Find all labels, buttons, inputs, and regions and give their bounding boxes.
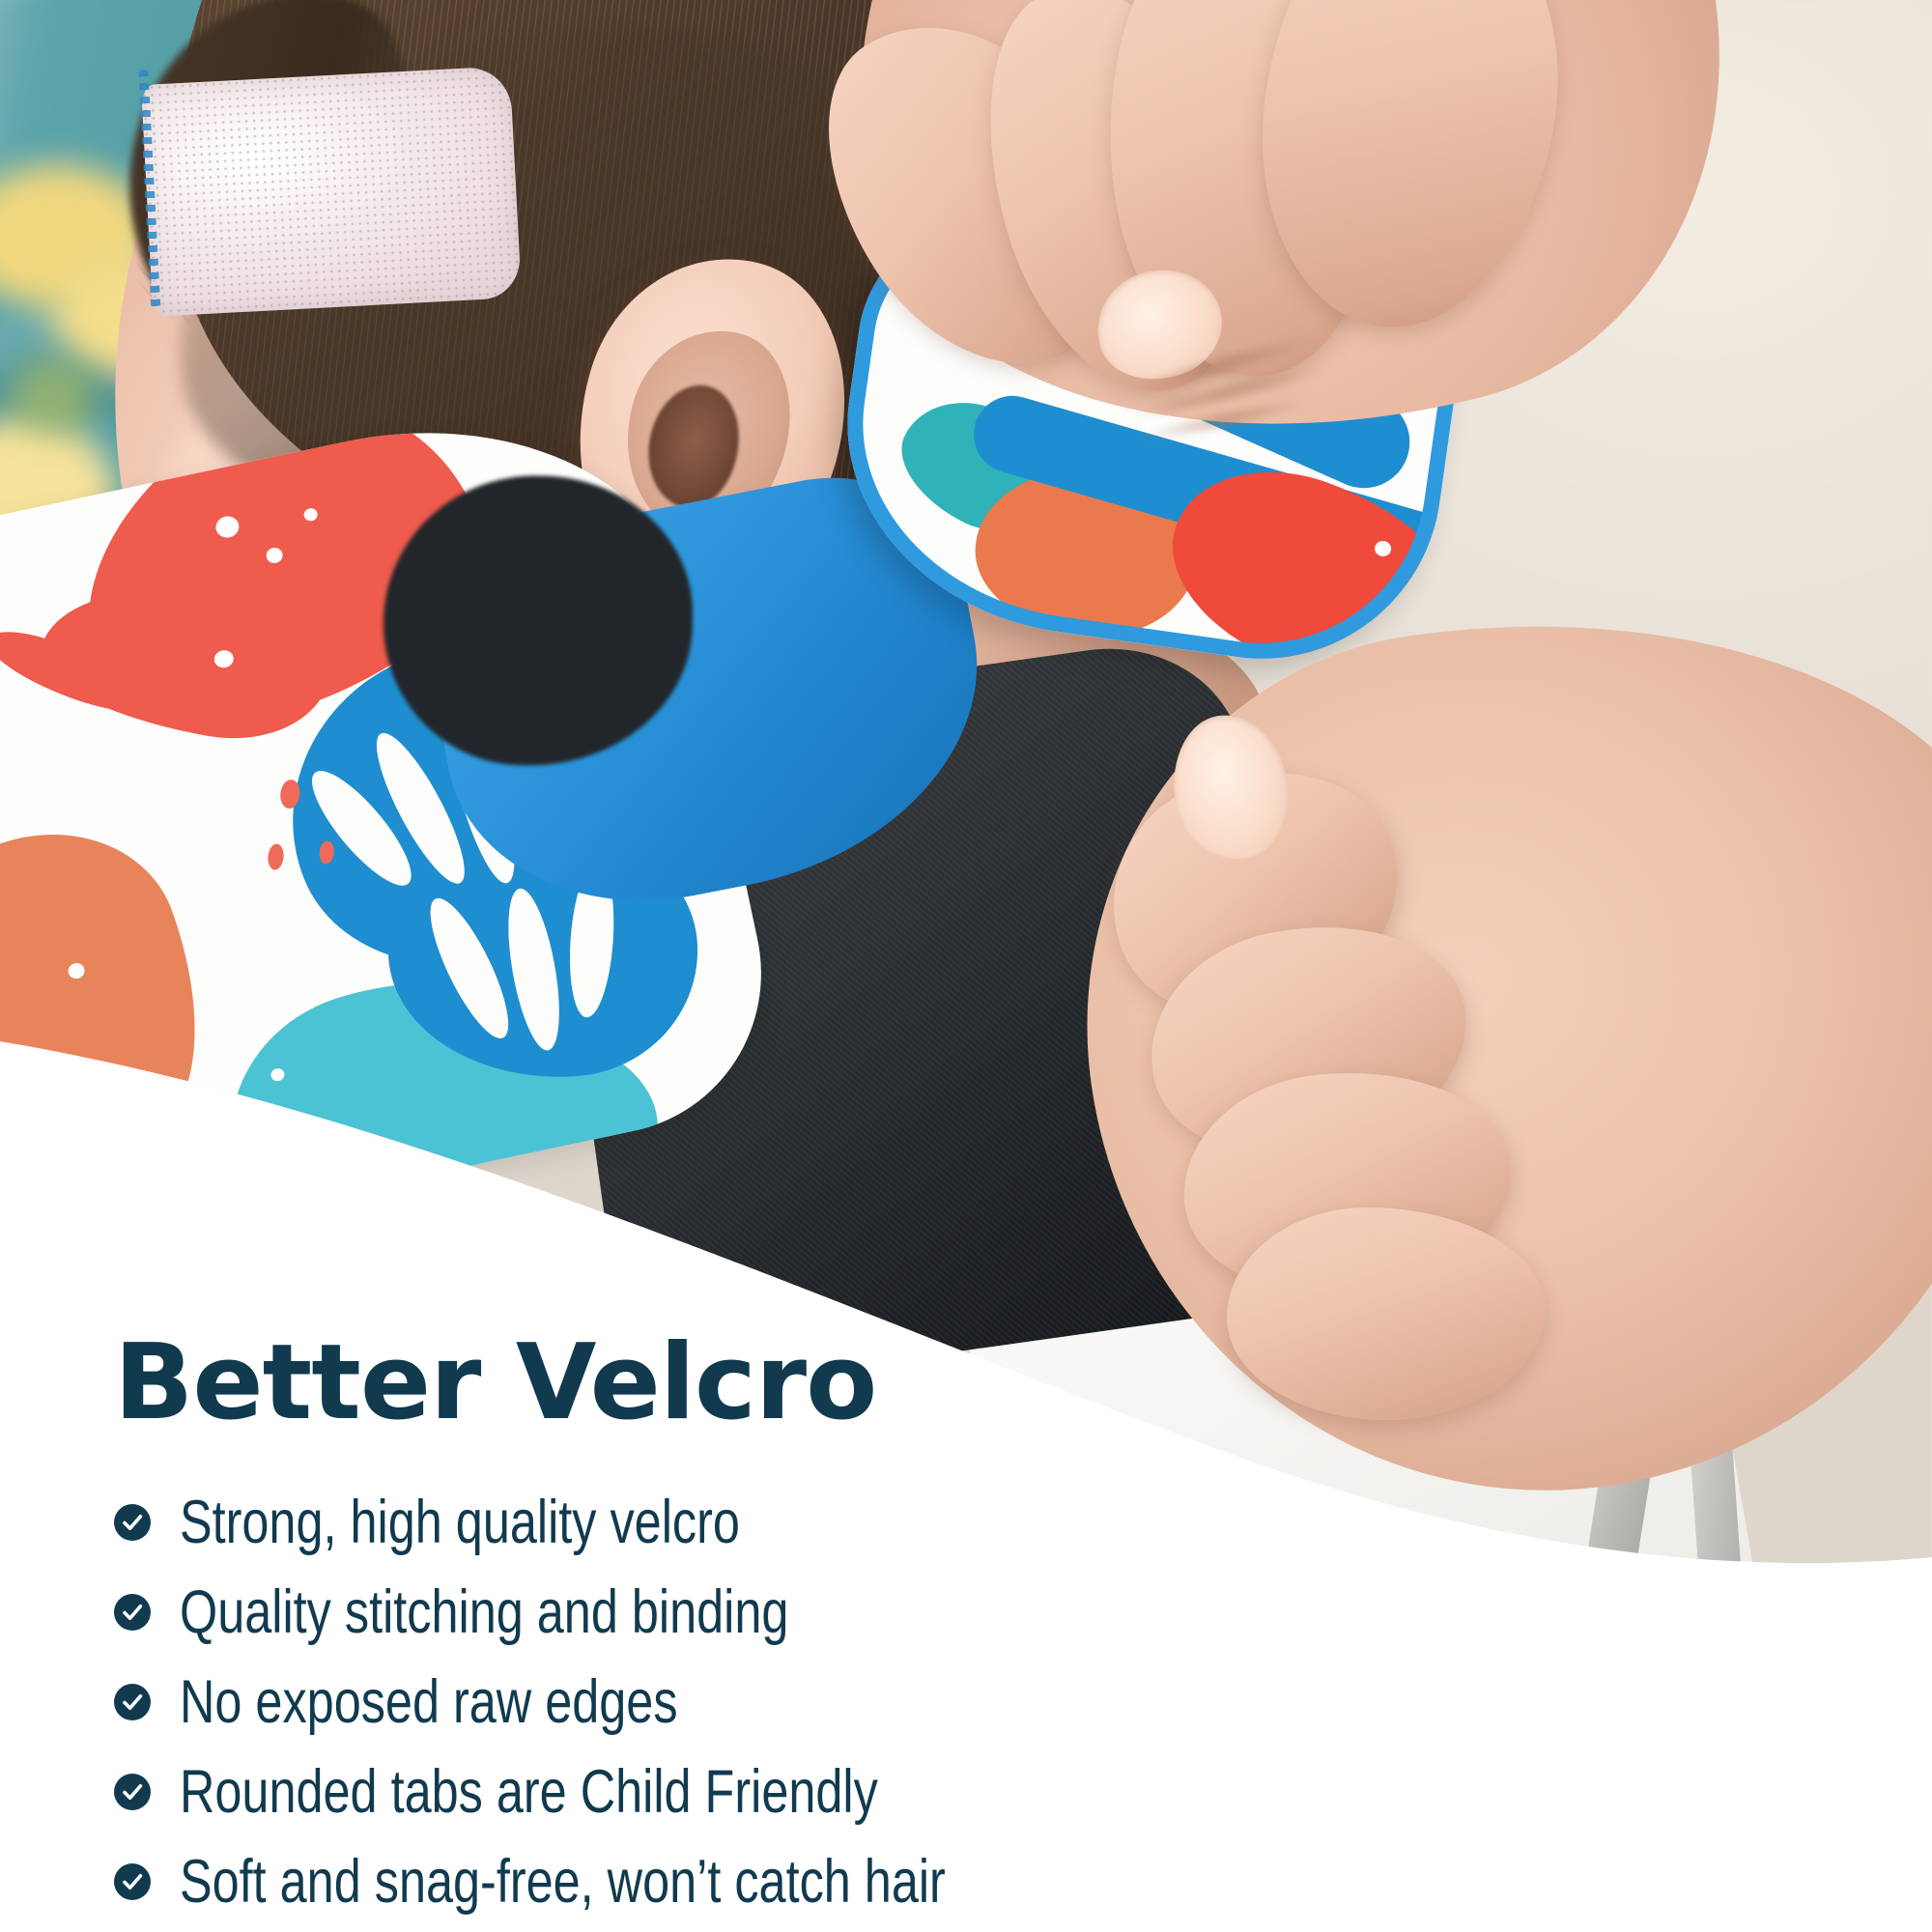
infographic-canvas: Better Velcro Strong, high quality velcr…	[0, 0, 1932, 1932]
check-circle-icon	[114, 1594, 151, 1631]
food-piece	[10, 357, 97, 435]
list-item-label: Strong, high quality velcro	[180, 1490, 740, 1555]
list-item: Soft and snag-free, won’t catch hair	[114, 1849, 1563, 1915]
check-circle-icon	[114, 1863, 151, 1900]
list-item: Rounded tabs are Child Friendly	[114, 1759, 1563, 1825]
bib-pattern-dot	[267, 843, 285, 871]
feature-list: Strong, high quality velcro Quality stit…	[114, 1490, 1563, 1915]
list-item-label: Soft and snag-free, won’t catch hair	[180, 1849, 946, 1915]
list-item: No exposed raw edges	[114, 1669, 1563, 1735]
check-circle-icon	[114, 1774, 151, 1810]
list-item-label: Quality stitching and binding	[180, 1579, 788, 1645]
check-circle-icon	[114, 1684, 151, 1720]
list-item-label: No exposed raw edges	[180, 1669, 678, 1735]
velcro-loop-texture	[141, 66, 522, 317]
page-title: Better Velcro	[114, 1331, 1563, 1435]
list-item: Strong, high quality velcro	[114, 1490, 1563, 1555]
feature-content: Better Velcro Strong, high quality velcr…	[114, 1331, 1563, 1932]
list-item: Quality stitching and binding	[114, 1579, 1563, 1645]
check-circle-icon	[114, 1504, 151, 1541]
list-item-label: Rounded tabs are Child Friendly	[180, 1759, 878, 1825]
